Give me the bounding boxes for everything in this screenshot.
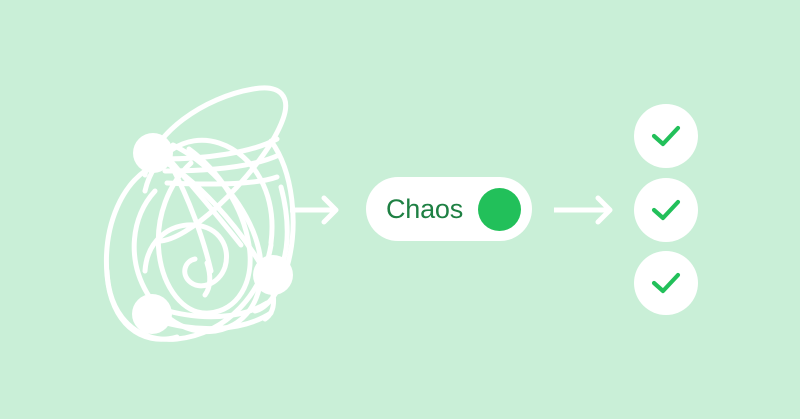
tangle-node-right	[253, 255, 293, 295]
arrow-one-icon	[288, 194, 342, 226]
check-item-1	[634, 104, 698, 168]
tangle-node-top	[133, 133, 173, 173]
tangled-scribble	[85, 75, 310, 350]
check-icon	[649, 123, 683, 149]
check-icon	[649, 270, 683, 296]
tangle-node-bottom	[132, 294, 172, 334]
illustration-canvas: Chaos	[0, 0, 800, 419]
chaos-toggle[interactable]: Chaos	[366, 177, 532, 241]
check-item-3	[634, 251, 698, 315]
check-icon	[649, 197, 683, 223]
check-item-2	[634, 178, 698, 242]
tangle-lines	[106, 88, 293, 339]
chaos-toggle-knob[interactable]	[478, 188, 521, 231]
chaos-toggle-label: Chaos	[386, 196, 463, 223]
arrow-two-icon	[554, 194, 616, 226]
